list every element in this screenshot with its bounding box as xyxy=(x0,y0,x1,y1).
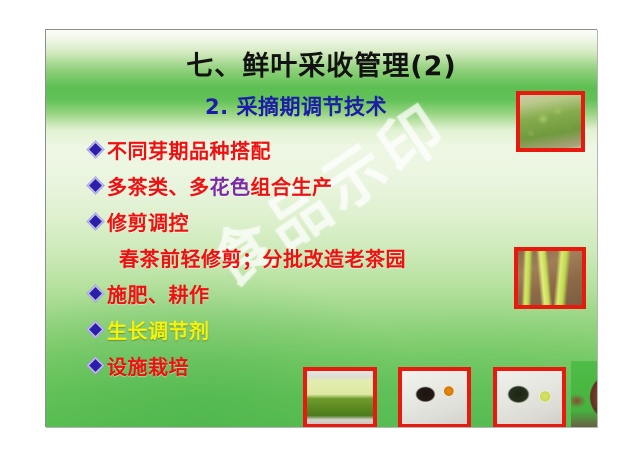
photo-tea-shoots xyxy=(514,247,586,309)
diamond-bullet-icon xyxy=(86,284,104,302)
list-item: 施肥、耕作 xyxy=(89,275,519,311)
slide-subtitle: 2. 采摘期调节技术 xyxy=(46,91,546,121)
list-item-label: 不同芽期品种搭配 xyxy=(107,135,271,164)
photo-teapot-scene-image xyxy=(571,361,597,427)
photo-black-tea xyxy=(398,367,471,427)
list-item: 多茶类、多花色组合生产 xyxy=(89,167,519,203)
list-item-label: 设施栽培 xyxy=(107,351,189,380)
list-item-label-part: 多茶类、多 xyxy=(107,171,210,200)
diamond-bullet-icon xyxy=(86,176,104,194)
photo-tea-shoots-image xyxy=(518,251,582,305)
bullet-list: 不同芽期品种搭配 多茶类、多花色组合生产 修剪调控 春茶前轻修剪；分批改造老茶园… xyxy=(89,131,519,383)
photo-oolong-tea-image xyxy=(497,371,562,424)
list-item-sub: 春茶前轻修剪；分批改造老茶园 xyxy=(89,239,519,275)
photo-green-tea-glass-image xyxy=(307,371,373,424)
diamond-bullet-icon xyxy=(86,140,104,158)
list-item-label: 生长调节剂 xyxy=(107,315,210,344)
list-item-label: 修剪调控 xyxy=(107,207,189,236)
photo-tea-bush-image xyxy=(520,95,581,148)
diamond-bullet-icon xyxy=(86,212,104,230)
photo-oolong-tea xyxy=(493,367,566,427)
list-item: 不同芽期品种搭配 xyxy=(89,131,519,167)
list-item-label: 施肥、耕作 xyxy=(107,279,210,308)
list-item-label-highlight: 花色 xyxy=(210,171,251,200)
slide-viewer: 食品示印 七、鲜叶采收管理(2) 2. 采摘期调节技术 不同芽期品种搭配 多茶类… xyxy=(0,0,640,452)
diamond-bullet-icon xyxy=(86,356,104,374)
list-item: 修剪调控 xyxy=(89,203,519,239)
presentation-slide: 食品示印 七、鲜叶采收管理(2) 2. 采摘期调节技术 不同芽期品种搭配 多茶类… xyxy=(45,29,597,427)
slide-title: 七、鲜叶采收管理(2) xyxy=(46,44,597,83)
list-item: 生长调节剂 xyxy=(89,311,519,347)
list-item-sub-label: 春茶前轻修剪；分批改造老茶园 xyxy=(119,243,406,272)
diamond-bullet-icon xyxy=(86,320,104,338)
photo-teapot-scene xyxy=(571,361,597,427)
photo-green-tea-glass xyxy=(303,367,377,427)
photo-tea-bush xyxy=(516,91,585,152)
list-item-label-part: 组合生产 xyxy=(251,171,333,200)
photo-black-tea-image xyxy=(402,371,467,424)
